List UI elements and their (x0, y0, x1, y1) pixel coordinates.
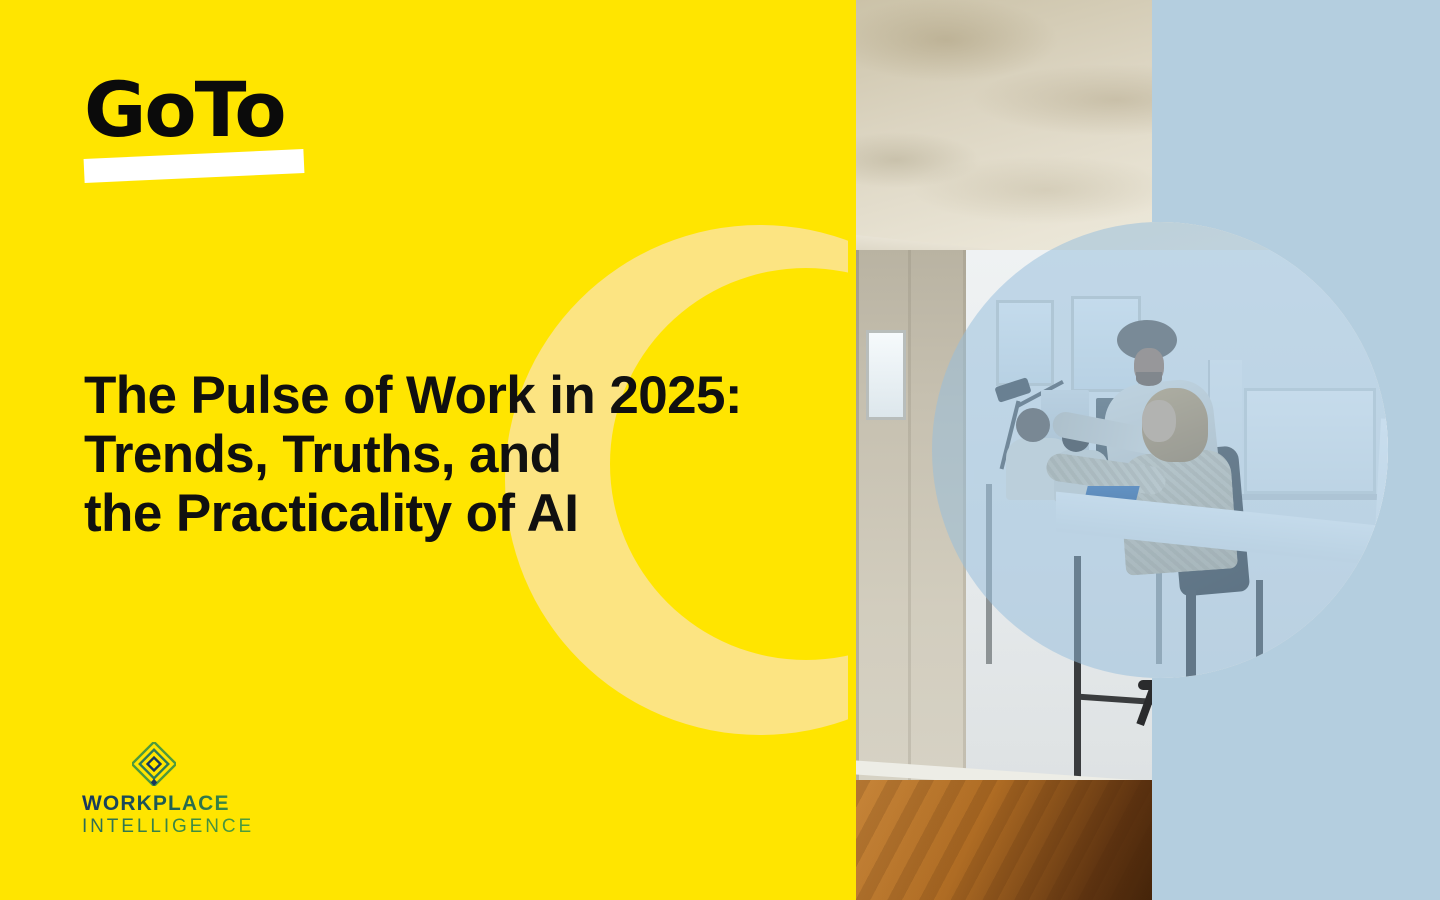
office-scene (856, 0, 1152, 900)
report-cover-page: GoTo The Pulse of Work in 2025: Trends, … (0, 0, 1440, 900)
workplace-intelligence-word-top: WORKPLACE (82, 792, 272, 816)
office-photo-duplicate (1152, 0, 1440, 900)
whiteboard-tray (1242, 494, 1380, 500)
workplace-intelligence-word-bottom: INTELLIGENCE (82, 816, 272, 838)
goto-logo-underline-bar (84, 149, 305, 183)
whiteboard (1244, 388, 1376, 494)
page-title: The Pulse of Work in 2025: Trends, Truth… (84, 366, 824, 543)
wall-paper-sheet (1371, 419, 1440, 612)
office-scene-duplicate (1152, 0, 1440, 900)
concrete-ceiling (1152, 0, 1440, 250)
office-photo-circle-reveal (1152, 0, 1440, 900)
panel-edge-sliver (848, 0, 856, 900)
goto-logo[interactable]: GoTo (84, 70, 314, 190)
wood-floor (1152, 800, 1440, 900)
wood-floor-foreground (856, 780, 1152, 900)
office-chair-base (1152, 680, 1248, 690)
background-person-head (1016, 408, 1050, 442)
baseboard (1152, 760, 1186, 797)
wood-floor-foreground (1152, 780, 1156, 900)
image-panel (856, 0, 1440, 900)
window-left (866, 330, 906, 420)
concrete-ceiling (856, 0, 1152, 250)
office-photo-strip (856, 0, 1152, 900)
workplace-intelligence-logo[interactable]: WORKPLACE INTELLIGENCE (82, 742, 272, 838)
page-title-line-3: the Practicality of AI (84, 484, 824, 543)
wall-sign (1404, 392, 1422, 418)
office-photo (856, 0, 1152, 900)
window-mid (996, 300, 1054, 386)
desk-leg (986, 484, 992, 664)
diamond-zigzag-icon (132, 742, 176, 786)
table-leg (1074, 556, 1081, 786)
goto-logo-text: GoTo (84, 70, 314, 150)
table-leg (1256, 580, 1263, 810)
page-title-line-2: Trends, Truths, and (84, 425, 824, 484)
page-title-line-1: The Pulse of Work in 2025: (84, 366, 824, 425)
office-chair-stem (1186, 590, 1196, 686)
